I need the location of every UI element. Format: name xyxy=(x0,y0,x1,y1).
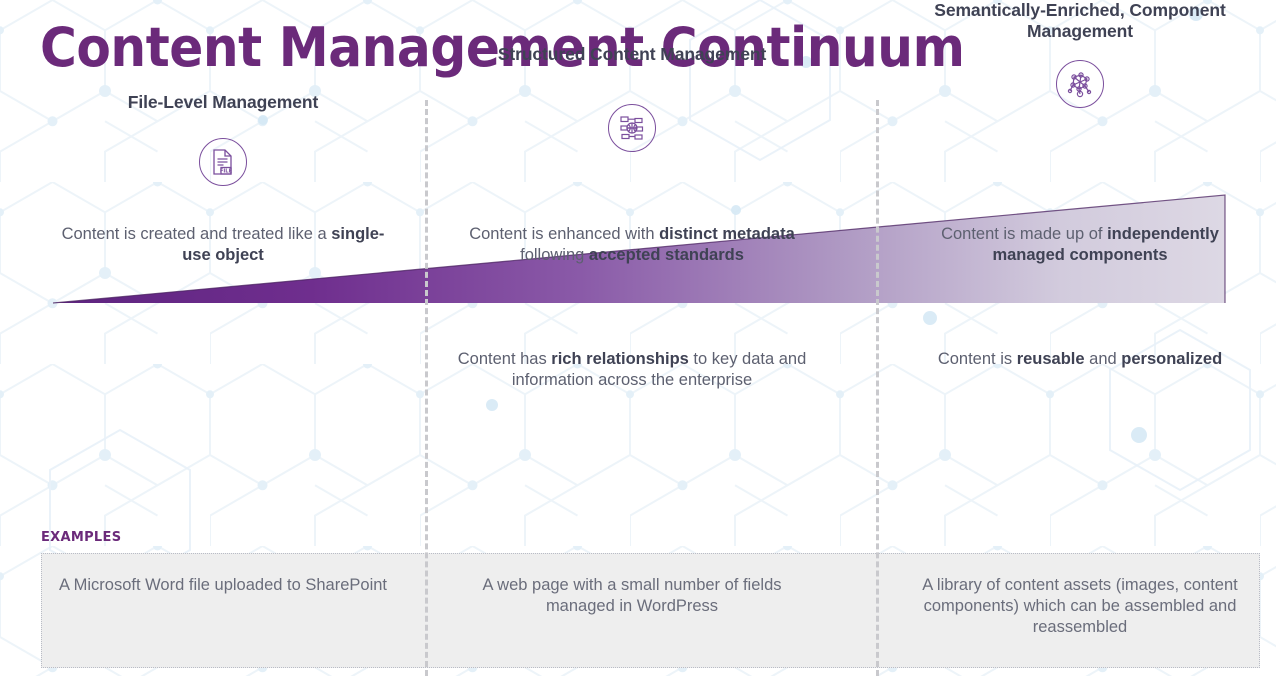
example-cell-1: A Microsoft Word file uploaded to ShareP… xyxy=(53,575,393,596)
examples-label: EXAMPLES xyxy=(41,530,121,545)
column-divider-2 xyxy=(876,100,879,676)
column-point-3-2: Content is reusable and personalized xyxy=(910,349,1250,370)
column-heading-2: Structured Content Management xyxy=(462,44,802,65)
column-heading-1: File-Level Management xyxy=(53,92,393,113)
svg-text:FILE: FILE xyxy=(220,169,233,175)
column-point-2-1: Content is enhanced with distinct metada… xyxy=(462,224,802,266)
column-heading-3: Semantically-Enriched, Component Managem… xyxy=(910,0,1250,43)
column-point-2-2: Content has rich relationships to key da… xyxy=(453,349,811,391)
column-point-3-1: Content is made up of independently mana… xyxy=(910,224,1250,266)
column-point-1-1: Content is created and treated like a si… xyxy=(53,224,393,266)
document-file-icon: FILE xyxy=(199,138,247,186)
column-divider-1 xyxy=(425,100,428,676)
structured-content-icon xyxy=(608,104,656,152)
network-nodes-icon xyxy=(1056,60,1104,108)
example-cell-2: A web page with a small number of fields… xyxy=(462,575,802,617)
example-cell-3: A library of content assets (images, con… xyxy=(910,575,1250,638)
